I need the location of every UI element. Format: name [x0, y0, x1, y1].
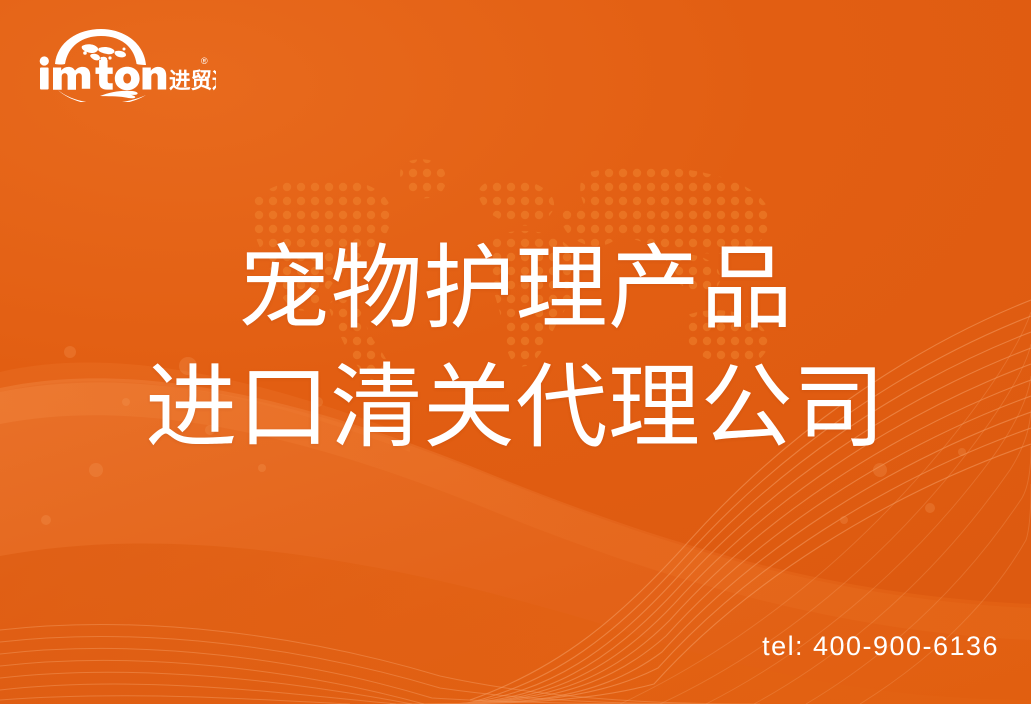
logo-chinese-name: 进贸通 [169, 69, 216, 94]
registered-trademark-icon: ® [201, 56, 208, 66]
swoosh-arc-icon [58, 90, 146, 102]
dotted-globe-arc-icon [55, 29, 146, 65]
promotional-banner: 进贸通 ® 宠物护理产品 进口清关代理公司 tel: 400-900-6136 [0, 0, 1031, 704]
telephone-text: tel: 400-900-6136 [762, 631, 999, 662]
headline-line-2: 进口清关代理公司 [0, 351, 1031, 464]
page-title: 宠物护理产品 进口清关代理公司 [0, 232, 1031, 464]
headline-line-1: 宠物护理产品 [0, 232, 1031, 345]
imton-logo[interactable]: 进贸通 ® [38, 26, 216, 102]
